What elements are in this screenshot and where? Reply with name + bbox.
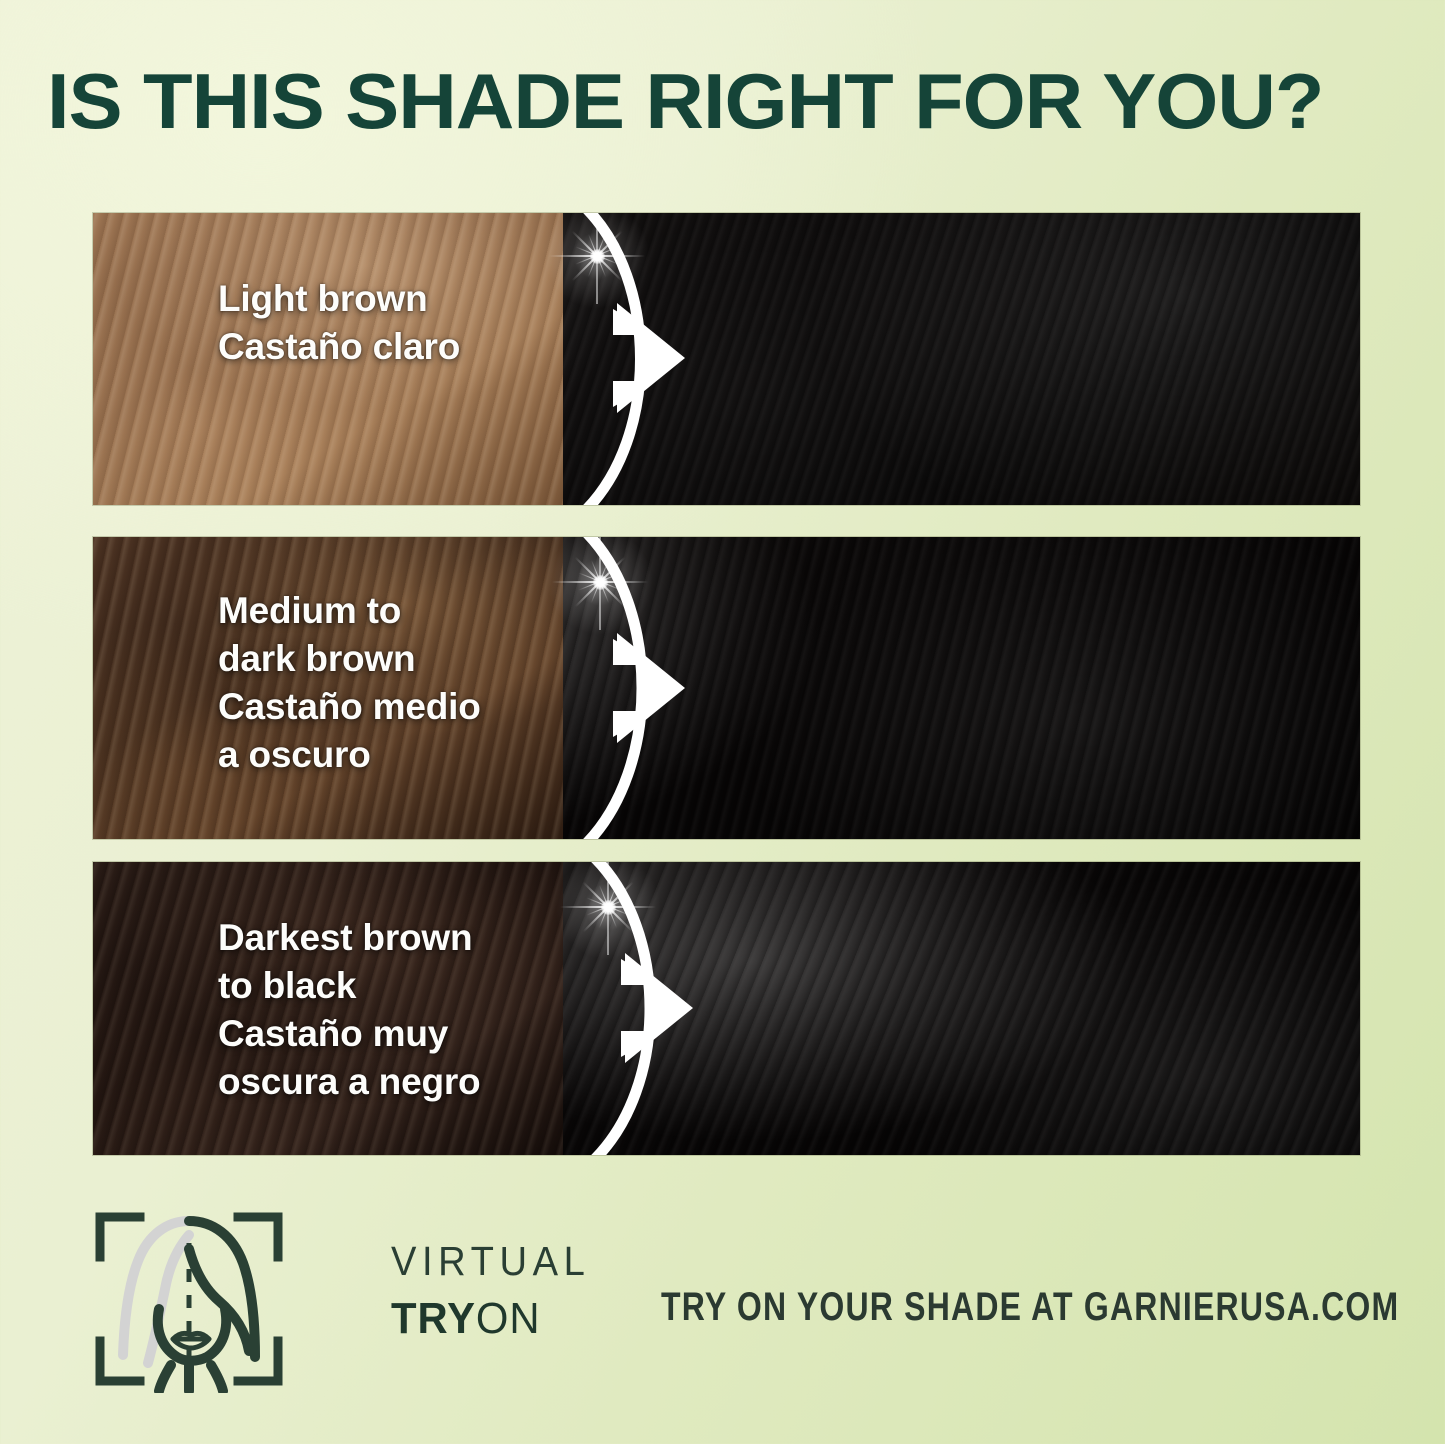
virtual-try-on-wordmark[interactable]: VIRTUAL TRYON [391,1241,621,1341]
tryon-label: TRYON [391,1297,610,1341]
footer: VIRTUAL TRYON TRY ON YOUR SHADE AT GARNI… [93,1205,1383,1395]
shade-label: Medium to dark brown Castaño medio a osc… [218,587,481,779]
virtual-label: VIRTUAL [391,1241,605,1282]
try-label: TRY [391,1294,476,1343]
tagline-text: TRY ON YOUR SHADE AT GARNIERUSA.COM [661,1285,1399,1330]
virtual-try-on-icon[interactable] [93,1205,285,1393]
shade-panel: Light brown Castaño claro [93,213,1360,505]
page-title: IS THIS SHADE RIGHT FOR YOU? [47,62,1445,140]
shade-panel: Darkest brown to black Castaño muy oscur… [93,862,1360,1155]
shade-panel: Medium to dark brown Castaño medio a osc… [93,537,1360,839]
shade-label: Light brown Castaño claro [218,275,460,371]
shade-label: Darkest brown to black Castaño muy oscur… [218,914,480,1106]
on-label: ON [476,1294,541,1343]
